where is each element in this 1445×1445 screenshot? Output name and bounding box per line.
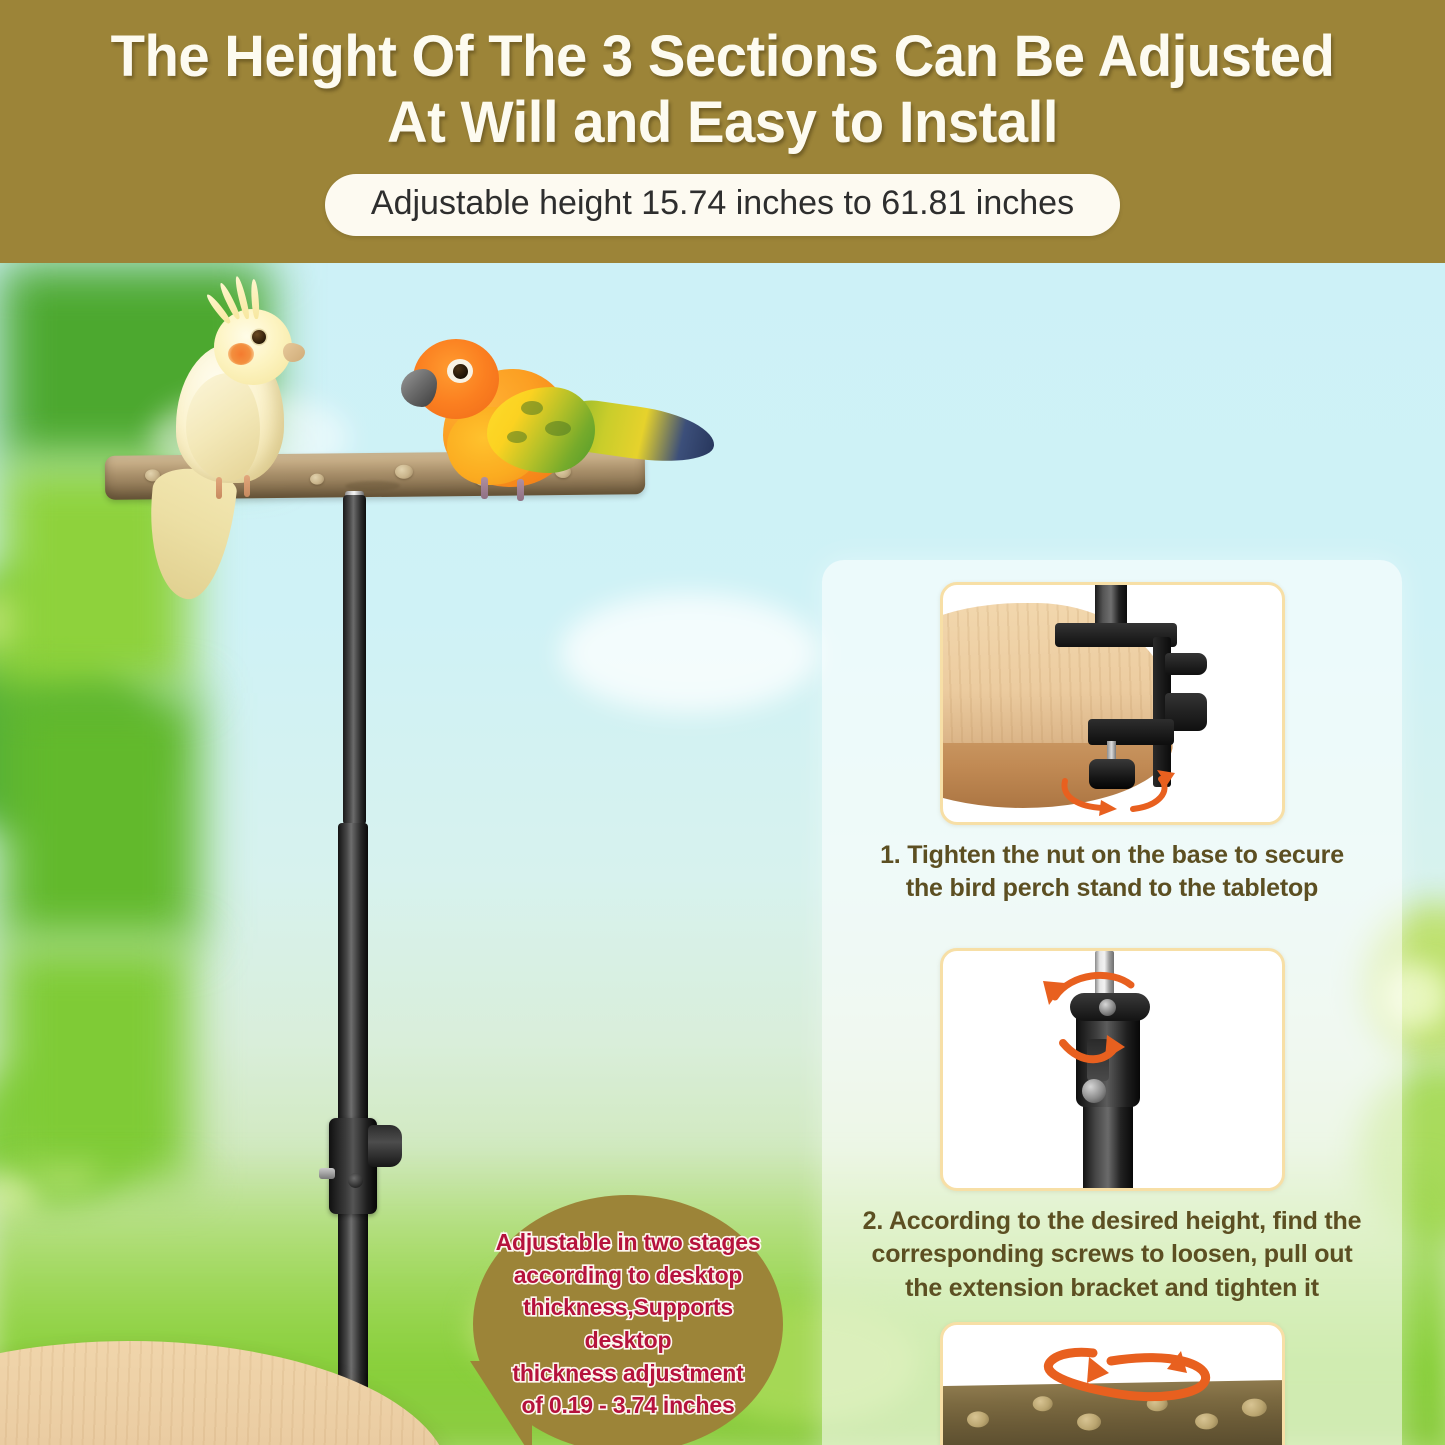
step-1-caption-line1: 1. Tighten the nut on the base to secure	[838, 839, 1386, 872]
adjustable-height-badge: Adjustable height 15.74 inches to 61.81 …	[325, 174, 1120, 235]
cockatiel-bird	[140, 281, 350, 511]
cockatiel-foot	[216, 477, 222, 499]
header-banner: The Height Of The 3 Sections Can Be Adju…	[0, 0, 1445, 263]
page-title-line1: The Height Of The 3 Sections Can Be Adju…	[60, 24, 1384, 90]
instruction-step-2: 2. According to the desired height, find…	[822, 948, 1402, 1305]
step-2-caption: 2. According to the desired height, find…	[838, 1205, 1386, 1305]
step-2-caption-line3: the extension bracket and tighten it	[838, 1272, 1386, 1305]
step-1-caption-line2: the bird perch stand to the tabletop	[838, 872, 1386, 905]
rotation-arrow-icon	[943, 951, 1285, 1191]
conure-foot	[517, 479, 524, 501]
branch-texture	[345, 481, 400, 492]
round-wooden-table	[0, 1341, 450, 1445]
cockatiel-foot	[244, 475, 250, 497]
header-pill-wrap: Adjustable height 15.74 inches to 61.81 …	[0, 174, 1445, 235]
bubble-line: according to desktop	[491, 1259, 765, 1292]
locking-collar-photo	[940, 948, 1285, 1191]
collar-side-screw	[319, 1168, 335, 1179]
bubble-line: of 0.19 - 3.74 inches	[491, 1389, 765, 1422]
step-2-caption-line2: corresponding screws to loosen, pull out	[838, 1238, 1386, 1271]
conure-wing-marking	[545, 421, 571, 436]
bubble-line: thickness adjustment	[491, 1357, 765, 1390]
page-title: The Height Of The 3 Sections Can Be Adju…	[22, 24, 1424, 156]
clamp-under-tabletop-photo	[940, 582, 1285, 825]
product-scene: Adjustable in two stages according to de…	[0, 263, 1445, 1445]
bubble-line: Adjustable in two stages	[491, 1226, 765, 1259]
conure-eye	[453, 364, 468, 379]
branch-perch-mount-photo	[940, 1322, 1285, 1445]
rotation-arrow-icon	[943, 1325, 1285, 1445]
instructions-panel: 1. Tighten the nut on the base to secure…	[822, 560, 1402, 1445]
upper-pole-section	[343, 495, 366, 825]
step-1-caption: 1. Tighten the nut on the base to secure…	[838, 839, 1386, 906]
collar-thumbscrew-knob	[368, 1125, 402, 1167]
collar-adjustment-hole	[348, 1173, 363, 1188]
cockatiel-beak	[283, 343, 305, 362]
cockatiel-eye	[252, 330, 266, 344]
infographic-root: The Height Of The 3 Sections Can Be Adju…	[0, 0, 1445, 1445]
bubble-line: thickness,Supports desktop	[491, 1291, 765, 1356]
callout-bubble-text: Adjustable in two stages according to de…	[473, 1226, 783, 1422]
callout-bubble: Adjustable in two stages according to de…	[473, 1195, 783, 1445]
conure-wing-marking	[521, 401, 543, 415]
conure-beak	[401, 369, 437, 407]
page-title-line2: At Will and Easy to Install	[60, 90, 1384, 156]
conure-wing-marking	[507, 431, 527, 443]
instruction-step-3: 3. Tighten the center nut of the pepperw…	[822, 1322, 1402, 1445]
conure-foot	[481, 477, 488, 499]
rotation-arrow-icon	[943, 585, 1285, 825]
instruction-step-1: 1. Tighten the nut on the base to secure…	[822, 582, 1402, 906]
cockatiel-tail	[141, 465, 238, 603]
cockatiel-cheek-patch	[228, 343, 254, 365]
sun-conure-bird	[395, 311, 695, 511]
step-2-caption-line1: 2. According to the desired height, find…	[838, 1205, 1386, 1238]
